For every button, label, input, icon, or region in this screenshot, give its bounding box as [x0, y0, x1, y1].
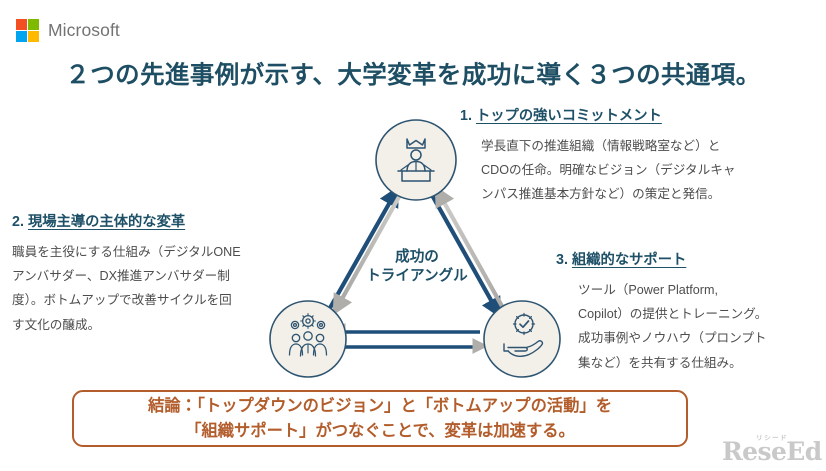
arrow-top-to-bottomleft — [338, 188, 404, 306]
point-3-body-line: 成功事例やノウハウ（プロンプト — [578, 326, 826, 350]
point-2-heading: 2.現場主導の主体的な変革 — [12, 210, 292, 231]
node-bottomleft-frontline[interactable] — [270, 301, 346, 377]
point-3-body: ツール（Power Platform, Copilot）の提供とトレーニング。 … — [578, 278, 826, 375]
point-3-body-line: Copilot）の提供とトレーニング。 — [578, 302, 826, 326]
logo-square-green — [28, 19, 39, 30]
arrow-top-to-bottomright — [428, 188, 496, 309]
conclusion-line-1: 結論：「トップダウンのビジョン」と「ボトムアップの活動」を — [148, 394, 612, 418]
point-2-body: 職員を主役にする仕組み（デジタルONE アンバサダー、DX推進アンバサダー制 度… — [12, 240, 292, 337]
point-3-title: 組織的なサポート — [572, 252, 686, 268]
point-3-body-line: 集など）を共有する仕組み。 — [578, 351, 826, 375]
point-3-block: 3.組織的なサポート ツール（Power Platform, Copilot）の… — [556, 248, 826, 375]
arrow-bottomright-to-bottomleft — [338, 331, 480, 332]
point-2-body-line: 職員を主役にする仕組み（デジタルONE — [12, 240, 292, 264]
arrow-bottomleft-to-top — [326, 195, 394, 315]
page-title: ２つの先進事例が示す、大学変革を成功に導く３つの共通項。 — [0, 56, 826, 91]
point-2-title: 現場主導の主体的な変革 — [28, 214, 185, 230]
microsoft-logo: Microsoft — [16, 19, 120, 42]
point-2-number: 2. — [12, 214, 24, 230]
microsoft-logo-squares — [16, 19, 39, 42]
reseed-watermark: リシード ReseEd — [722, 432, 818, 466]
point-2-body-line: 度）。ボトムアップで改善サイクルを回 — [12, 288, 292, 312]
conclusion-box: 結論：「トップダウンのビジョン」と「ボトムアップの活動」を 「組織サポート」がつ… — [72, 390, 688, 447]
point-3-heading: 3.組織的なサポート — [556, 248, 826, 269]
watermark-logo-text: ReseEd — [722, 437, 822, 466]
slide-canvas: Microsoft ２つの先進事例が示す、大学変革を成功に導く３つの共通項。 1… — [0, 0, 826, 471]
node-bottomright-support[interactable] — [484, 301, 560, 377]
point-2-block: 2.現場主導の主体的な変革 職員を主役にする仕組み（デジタルONE アンバサダー… — [12, 210, 292, 337]
microsoft-wordmark: Microsoft — [48, 20, 120, 41]
success-triangle-diagram: 成功の トライアングル — [252, 110, 582, 390]
point-2-body-line: す文化の醸成。 — [12, 313, 292, 337]
logo-square-yellow — [28, 31, 39, 42]
node-top-commitment[interactable] — [376, 120, 456, 200]
point-2-body-line: アンバサダー、DX推進アンバサダー制 — [12, 264, 292, 288]
logo-square-red — [16, 19, 27, 30]
arrow-bottomleft-to-bottomright — [336, 346, 480, 347]
point-3-body-line: ツール（Power Platform, — [578, 278, 826, 302]
arrow-bottomright-to-top — [440, 195, 508, 317]
logo-square-blue — [16, 31, 27, 42]
conclusion-line-2: 「組織サポート」がつなぐことで、変革は加速する。 — [185, 419, 575, 443]
